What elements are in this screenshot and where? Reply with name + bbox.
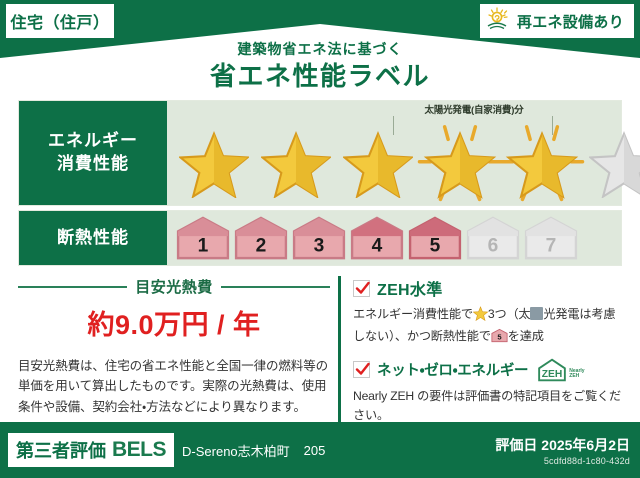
- zeh-badge-sub: Nearly ZEH: [569, 369, 584, 382]
- net-zero-energy-checkbox[interactable]: [353, 361, 370, 378]
- insulation-level-1: 1: [175, 215, 231, 261]
- evaluation-id: 5cdfd88d-1c80-432d: [495, 456, 630, 466]
- zeh-desc-part1: エネルギー消費性能で: [353, 307, 473, 321]
- inline-insulation-level-icon: 5: [491, 328, 508, 343]
- net-zero-energy-description: Nearly ZEH の要件は評価書の特記項目をご覧ください。: [353, 387, 622, 425]
- insulation-performance-value: 1 2 3 4: [167, 211, 621, 265]
- star-1: [173, 121, 255, 199]
- label-content-panel: エネルギー 消費性能 太陽光発電(自家消費)分: [18, 100, 622, 418]
- insulation-level-1-number: 1: [198, 235, 209, 256]
- net-zero-energy-title: ネット・ゼロ・エネルギー: [377, 359, 528, 380]
- insulation-level-7: 7: [523, 215, 579, 261]
- lower-section: 目安光熱費 約9.0万円 / 年 目安光熱費は、住宅の省エネ性能と全国一律の燃料…: [18, 276, 622, 428]
- building-name: D-Sereno志木柏町: [182, 441, 290, 460]
- energy-performance-label: 住宅（住戸） 再エネ設備あり 建: [0, 0, 640, 478]
- obscured-character: [530, 307, 543, 320]
- check-icon: [355, 362, 370, 377]
- energy-performance-value: 太陽光発電(自家消費)分: [167, 101, 640, 205]
- energy-performance-label-line2: 消費性能: [57, 153, 129, 176]
- insulation-performance-label-box: 断熱性能: [19, 211, 167, 265]
- bels-en-label: BELS: [112, 438, 166, 462]
- zeh-standard-title: ZEH水準: [377, 276, 443, 300]
- insulation-performance-row: 断熱性能 1 2: [18, 210, 622, 266]
- energy-cost-heading: 目安光熱費: [18, 276, 330, 297]
- heading-rule-left: [18, 286, 127, 288]
- label-title-block: 建築物省エネ法に基づく 省エネ性能ラベル: [0, 40, 640, 93]
- energy-cost-value: 約9.0万円 / 年: [18, 303, 330, 342]
- renewable-equipment-label: 再エネ設備あり: [517, 11, 624, 32]
- zeh-house-badge: ZEH Nearly ZEH: [537, 358, 584, 382]
- energy-performance-label-box: エネルギー 消費性能: [19, 101, 167, 205]
- energy-cost-heading-label: 目安光熱費: [135, 276, 213, 297]
- sun-icon: [486, 7, 512, 36]
- svg-text:ZEH: ZEH: [542, 369, 563, 380]
- energy-cost-note: 目安光熱費は、住宅の省エネ性能と全国一律の燃料等の単価を用いて算出したものです。…: [18, 356, 330, 417]
- inline-star-icon: [473, 310, 488, 324]
- star-2: [255, 121, 337, 199]
- solar-bracket-label: 太陽光発電(自家消費)分: [389, 102, 559, 116]
- insulation-performance-label: 断熱性能: [57, 227, 129, 250]
- zeh-standard-description: エネルギー消費性能で3つ（太光発電は考慮しない）、かつ断熱性能で5を達成: [353, 305, 622, 346]
- zeh-desc-part3: を達成: [508, 329, 544, 343]
- net-zero-energy-block: ネット・ゼロ・エネルギー ZEH Nearly ZEH: [353, 358, 622, 425]
- insulation-level-5-number: 5: [430, 235, 441, 256]
- house-type-badge-label: 住宅（住戸）: [10, 9, 109, 33]
- bels-jp-label: 第三者評価: [16, 437, 106, 463]
- zeh-desc-star-count: 3つ（太: [488, 307, 531, 321]
- bels-logo-box: 第三者評価 BELS: [8, 433, 174, 467]
- label-title: 省エネ性能ラベル: [0, 60, 640, 93]
- label-footer: 第三者評価 BELS D-Sereno志木柏町 205 評価日 2025年6月2…: [0, 422, 640, 478]
- zeh-standard-block: ZEH水準 エネルギー消費性能で3つ（太光発電は考慮しない）、かつ断熱性能で5を…: [353, 276, 622, 346]
- insulation-level-5: 5: [407, 215, 463, 261]
- net-zero-energy-header: ネット・ゼロ・エネルギー ZEH Nearly ZEH: [353, 358, 622, 382]
- check-icon: [355, 281, 370, 296]
- energy-performance-label-line1: エネルギー: [48, 130, 138, 153]
- insulation-level-scale: 1 2 3 4: [167, 211, 621, 265]
- insulation-level-6: 6: [465, 215, 521, 261]
- zeh-standard-header: ZEH水準: [353, 276, 622, 300]
- insulation-level-3: 3: [291, 215, 347, 261]
- insulation-level-2: 2: [233, 215, 289, 261]
- footer-right-block: 評価日 2025年6月2日 5cdfd88d-1c80-432d: [495, 435, 630, 466]
- house-type-badge: 住宅（住戸）: [6, 4, 114, 38]
- insulation-level-6-number: 6: [488, 235, 499, 256]
- energy-performance-row: エネルギー 消費性能 太陽光発電(自家消費)分: [18, 100, 622, 206]
- insulation-level-4-number: 4: [372, 235, 383, 256]
- renewable-equipment-badge: 再エネ設備あり: [480, 4, 634, 38]
- zeh-section: ZEH水準 エネルギー消費性能で3つ（太光発電は考慮しない）、かつ断熱性能で5を…: [338, 276, 622, 428]
- insulation-level-2-number: 2: [256, 235, 267, 256]
- star-6-empty: [583, 121, 640, 199]
- energy-cost-section: 目安光熱費 約9.0万円 / 年 目安光熱費は、住宅の省エネ性能と全国一律の燃料…: [18, 276, 338, 428]
- zeh-badge-sub-line2: ZEH: [569, 373, 579, 379]
- insulation-level-4: 4: [349, 215, 405, 261]
- label-subtitle: 建築物省エネ法に基づく: [0, 40, 640, 58]
- building-unit-number: 205: [304, 443, 326, 458]
- heading-rule-right: [221, 286, 330, 288]
- zeh-standard-checkbox[interactable]: [353, 280, 370, 297]
- evaluation-date: 評価日 2025年6月2日: [495, 435, 630, 455]
- zeh-house-icon: ZEH: [537, 358, 567, 382]
- insulation-level-7-number: 7: [546, 235, 557, 256]
- insulation-level-3-number: 3: [314, 235, 325, 256]
